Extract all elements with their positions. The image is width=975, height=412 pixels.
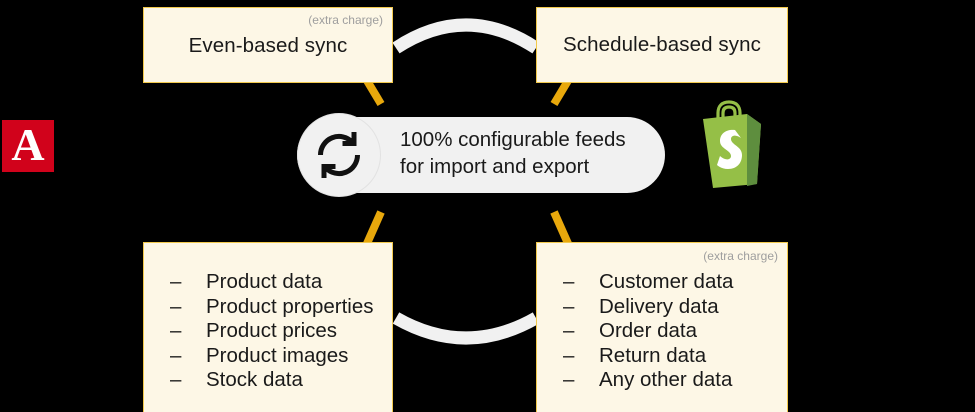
list-item: –Return data (563, 344, 733, 369)
list-item: –Product properties (170, 295, 374, 320)
pill-caption: 100% configurable feeds for import and e… (400, 126, 650, 180)
bullet-dash: – (170, 368, 206, 393)
list-item: –Delivery data (563, 295, 733, 320)
adobe-commerce-logo: A (2, 120, 54, 172)
box-product-data-list[interactable]: –Product data –Product properties –Produ… (143, 242, 393, 412)
sync-refresh-icon (313, 129, 365, 181)
bullet-dash: – (170, 344, 206, 369)
list-item-label: Return data (599, 344, 706, 367)
list-item: –Product images (170, 344, 374, 369)
pill-caption-line2: for import and export (400, 153, 650, 180)
badge-extra-charge: (extra charge) (703, 249, 778, 263)
list-item-label: Product images (206, 344, 348, 367)
list-item-label: Stock data (206, 368, 303, 391)
list-item-label: Customer data (599, 270, 733, 293)
bullet-dash: – (170, 319, 206, 344)
bullet-dash: – (563, 368, 599, 393)
list-item-label: Product data (206, 270, 322, 293)
box-event-based-sync[interactable]: (extra charge) Even-based sync (143, 7, 393, 83)
box-title: Schedule-based sync (537, 33, 787, 57)
shopify-bag-side (747, 114, 761, 186)
list-item-label: Product prices (206, 319, 337, 342)
list-item: –Customer data (563, 270, 733, 295)
bottom-arc (396, 318, 536, 338)
list-item-label: Product properties (206, 295, 374, 318)
list-item: –Any other data (563, 368, 733, 393)
list-item: –Product data (170, 270, 374, 295)
bullet-dash: – (563, 295, 599, 320)
list-item-label: Any other data (599, 368, 732, 391)
shopify-logo (691, 100, 769, 190)
list-item-label: Order data (599, 319, 697, 342)
diagram-canvas: (extra charge) Even-based sync Schedule-… (0, 0, 975, 412)
customer-data-items: –Customer data –Delivery data –Order dat… (563, 270, 733, 393)
box-schedule-based-sync[interactable]: Schedule-based sync (536, 7, 788, 83)
bullet-dash: – (170, 295, 206, 320)
list-item: –Product prices (170, 319, 374, 344)
adobe-logo-letter: A (11, 122, 44, 168)
badge-extra-charge: (extra charge) (308, 13, 383, 27)
list-item-label: Delivery data (599, 295, 719, 318)
bullet-dash: – (563, 319, 599, 344)
bullet-dash: – (563, 270, 599, 295)
box-title: Even-based sync (144, 34, 392, 58)
pill-caption-line1: 100% configurable feeds (400, 126, 650, 153)
box-customer-data-list[interactable]: (extra charge) –Customer data –Delivery … (536, 242, 788, 412)
list-item: –Order data (563, 319, 733, 344)
bullet-dash: – (170, 270, 206, 295)
product-data-items: –Product data –Product properties –Produ… (170, 270, 374, 393)
bullet-dash: – (563, 344, 599, 369)
list-item: –Stock data (170, 368, 374, 393)
top-arc (396, 25, 536, 48)
